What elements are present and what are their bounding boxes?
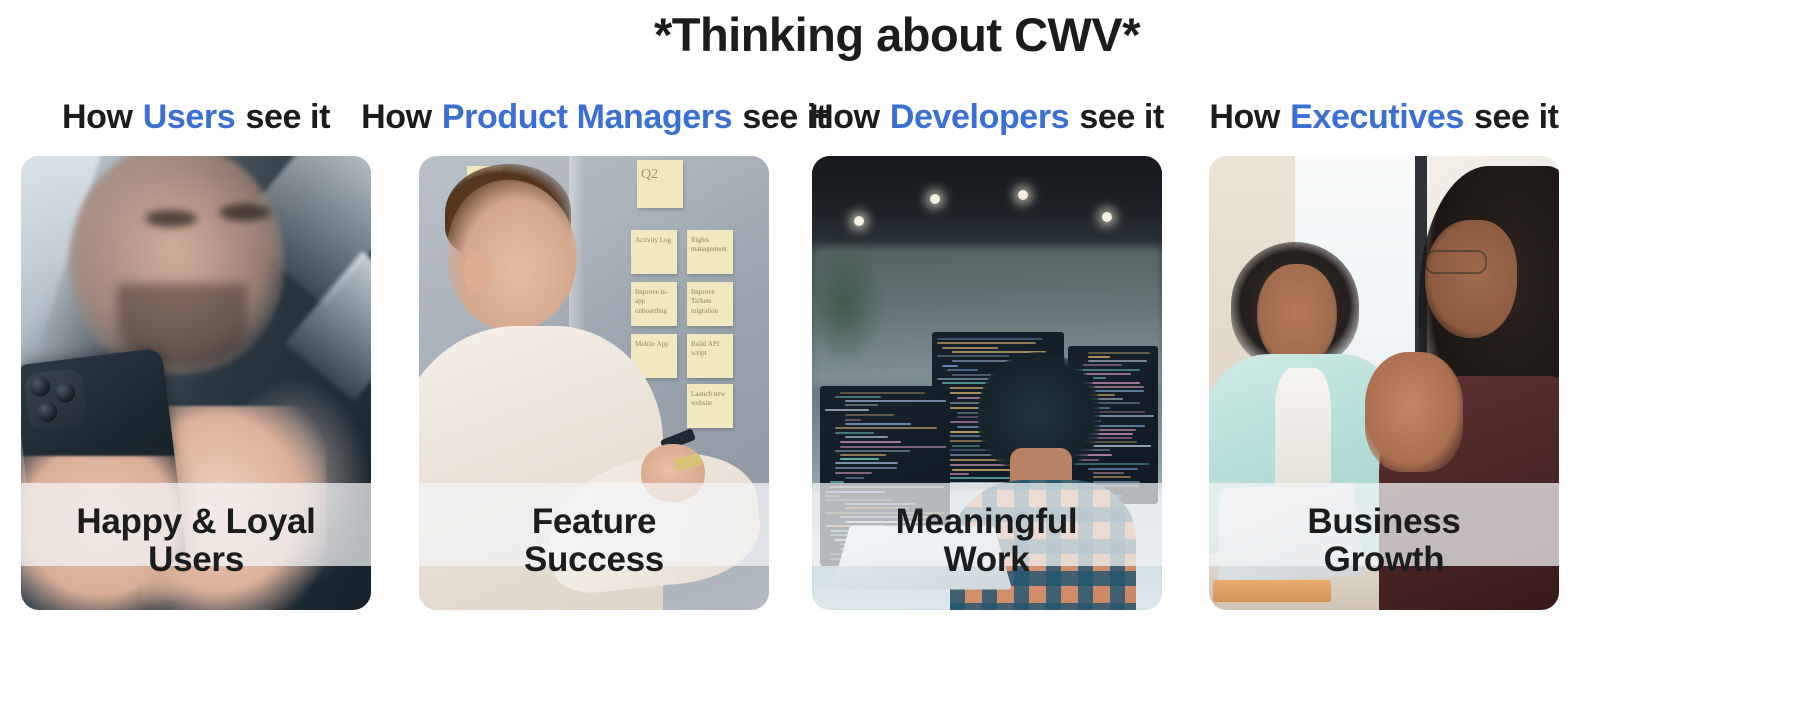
person-head <box>447 180 577 330</box>
card-caption-band: Feature Success <box>419 483 769 566</box>
card-caption-band: Happy & Loyal Users <box>21 483 371 566</box>
heading-role: Executives <box>1290 99 1464 136</box>
code-line <box>835 432 874 434</box>
person-eye <box>145 210 197 227</box>
code-line <box>835 462 898 464</box>
sticky-note: Activity Log <box>631 230 677 274</box>
ceiling-light <box>1102 212 1112 222</box>
ceiling-light <box>930 194 940 204</box>
persona-columns: HowUserssee it <box>0 96 1794 714</box>
person-ear <box>463 252 493 292</box>
code-line <box>942 365 958 367</box>
sticky-note: Q2 <box>637 160 683 208</box>
ceiling-light <box>854 216 864 226</box>
code-line <box>845 414 894 416</box>
sticky-note: Launch new website <box>687 384 733 428</box>
code-line <box>845 477 864 479</box>
code-line <box>845 400 946 402</box>
sticky-note: Build API script <box>687 334 733 378</box>
code-line <box>845 423 911 425</box>
persona-card-product-managers[interactable]: Q2 Activity Log Rights management Improv… <box>419 156 769 610</box>
code-line <box>937 342 1036 344</box>
column-heading-product-managers: HowProduct Managerssee it <box>361 96 827 140</box>
ceiling-light <box>1018 190 1028 200</box>
heading-suffix: see it <box>245 99 330 136</box>
page-title: *Thinking about CWV* <box>0 6 1794 65</box>
heading-prefix: How <box>1209 99 1280 136</box>
person-face <box>1425 220 1517 338</box>
persona-card-developers[interactable]: Meaningful Work <box>812 156 1162 610</box>
persona-column-executives: HowExecutivessee it <box>1189 96 1579 610</box>
code-line <box>845 419 861 421</box>
code-line <box>937 338 1043 340</box>
office-ceiling <box>812 156 1162 252</box>
card-caption-band: Meaningful Work <box>812 483 1162 566</box>
code-line <box>840 454 886 456</box>
eyeglasses <box>1425 250 1487 274</box>
office-plant <box>812 242 882 362</box>
column-heading-developers: HowDeveloperssee it <box>809 96 1164 140</box>
person-hand-gesturing <box>1365 352 1463 472</box>
column-heading-users: HowUserssee it <box>62 96 330 140</box>
code-line <box>840 392 925 394</box>
code-line <box>840 446 946 448</box>
card-caption-executives: Business Growth <box>1307 503 1460 578</box>
card-caption-product-managers: Feature Success <box>524 503 664 578</box>
sticky-note: Rights management <box>687 230 733 274</box>
heading-role: Product Managers <box>442 99 732 136</box>
page-root: *Thinking about CWV* HowUserssee it <box>0 0 1794 714</box>
card-caption-users: Happy & Loyal Users <box>76 503 315 578</box>
notebook <box>1213 580 1331 602</box>
heading-role: Users <box>143 99 236 136</box>
code-line <box>942 347 998 349</box>
persona-column-developers: HowDeveloperssee it <box>792 96 1181 610</box>
sticky-note: Improve in-app onboarding <box>631 282 677 326</box>
persona-card-users[interactable]: Happy & Loyal Users <box>21 156 371 610</box>
code-line <box>835 427 937 429</box>
code-line <box>845 404 878 406</box>
code-line <box>835 450 910 452</box>
persona-column-users: HowUserssee it <box>0 96 392 610</box>
white-top <box>1275 368 1331 498</box>
code-line <box>840 458 879 460</box>
sticky-note: Improve Tickets migration <box>687 282 733 326</box>
heading-prefix: How <box>62 99 133 136</box>
person-eye <box>219 204 271 221</box>
person-face <box>1257 264 1337 368</box>
persona-column-product-managers: HowProduct Managerssee it Q2 Activity Lo… <box>396 96 792 610</box>
card-caption-developers: Meaningful Work <box>896 503 1078 578</box>
code-line <box>835 467 897 469</box>
heading-prefix: How <box>809 99 880 136</box>
card-caption-band: Business Growth <box>1209 483 1559 566</box>
heading-suffix: see it <box>1079 99 1164 136</box>
persona-card-executives[interactable]: Business Growth <box>1209 156 1559 610</box>
code-line <box>825 409 869 411</box>
code-line <box>835 396 881 398</box>
code-line <box>835 472 872 474</box>
code-line <box>845 436 888 438</box>
camera-lens-cluster <box>24 368 89 433</box>
code-line <box>840 441 901 443</box>
column-heading-executives: HowExecutivessee it <box>1209 96 1558 140</box>
heading-suffix: see it <box>1474 99 1559 136</box>
heading-prefix: How <box>361 99 432 136</box>
heading-role: Developers <box>890 99 1069 136</box>
